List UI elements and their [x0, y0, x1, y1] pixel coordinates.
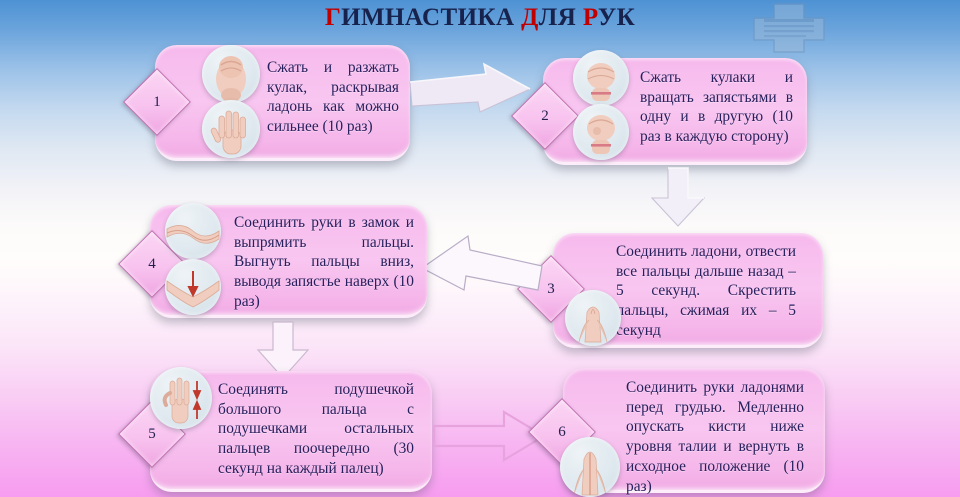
fist-wrist-rotation-photo-top	[573, 50, 629, 106]
title-part-6: УК	[598, 4, 635, 31]
title-part-2: ИМНАСТИКА	[341, 4, 521, 31]
title-part-1: Г	[325, 4, 341, 31]
fingers-bent-down-arrow-photo	[165, 259, 221, 315]
title-part-3: Д	[521, 4, 539, 31]
step-2-text: Сжать кулаки и вращать запястьями в одну…	[640, 68, 793, 147]
fist-wrist-rotation-photo-bottom	[573, 104, 629, 160]
arrow-step3-to-step4	[416, 228, 546, 306]
prayer-hands-photo	[560, 437, 620, 497]
step-1-text: Сжать и разжать кулак, раскрывая ладонь …	[267, 58, 399, 137]
step-1-number: 1	[134, 79, 180, 125]
thumb-to-fingertip-photo	[150, 367, 212, 429]
step-4-text: Соединить руки в замок и выпрямить пальц…	[234, 213, 414, 312]
title-part-4: ЛЯ	[539, 4, 583, 31]
open-palm-photo	[202, 100, 260, 158]
clenched-fist-photo	[202, 45, 260, 103]
medical-cross-logo	[750, 2, 828, 54]
title-part-5: Р	[583, 4, 598, 31]
interlocked-fingers-photo	[165, 203, 221, 259]
step-3-text: Соединить ладони, отвести все пальцы дал…	[616, 242, 796, 341]
step-2-number: 2	[522, 93, 568, 139]
step-card-1: Сжать и разжать кулак, раскрывая ладонь …	[155, 45, 410, 161]
step-5-text: Соединять подушечкой большого пальца с п…	[218, 380, 414, 479]
pressed-palms-photo	[565, 290, 621, 346]
arrow-step2-to-step3	[646, 166, 710, 230]
infographic-canvas: ГИМНАСТИКА ДЛЯ РУК Сжать и разжать кулак…	[0, 0, 960, 497]
step-6-text: Соединить руки ладонями перед грудью. Ме…	[626, 378, 804, 496]
